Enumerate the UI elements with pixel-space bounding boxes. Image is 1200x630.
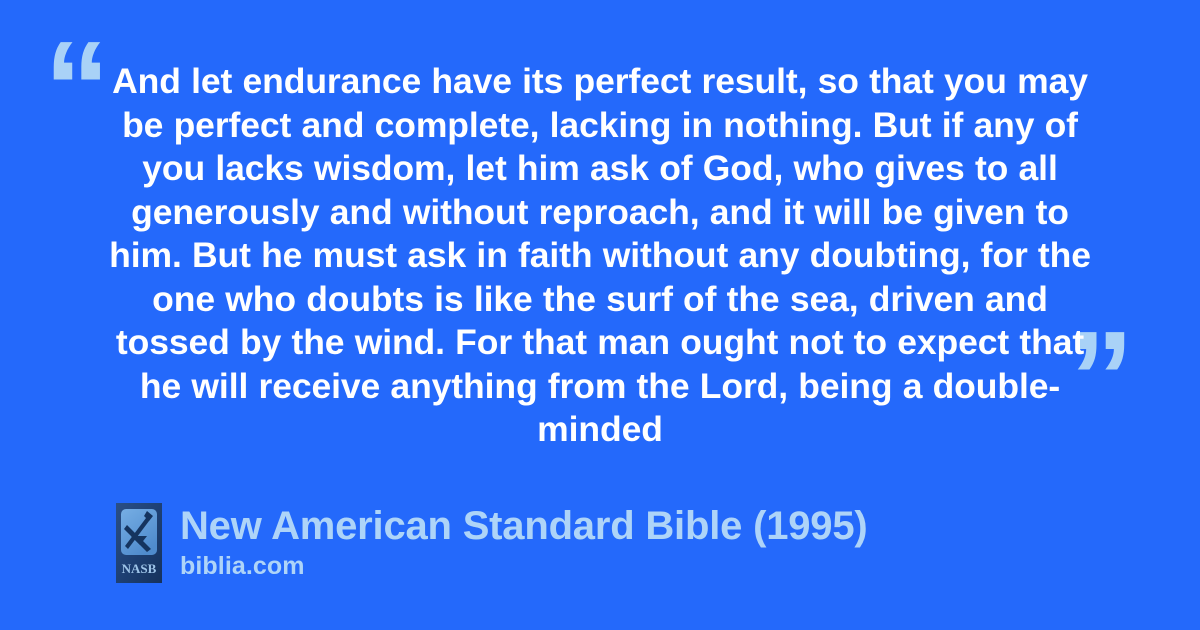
bible-version-title: New American Standard Bible (1995) [180,503,868,550]
svg-text:NASB: NASB [122,561,157,576]
quote-text: And let endurance have its perfect resul… [104,60,1096,452]
site-label: biblia.com [180,551,868,581]
brand-text: New American Standard Bible (1995) bibli… [180,503,868,581]
branding: NASB New American Standard Bible (1995) … [116,503,868,583]
quote-block: And let endurance have its perfect resul… [0,60,1200,452]
quote-card: “ ” And let endurance have its perfect r… [0,0,1200,630]
nasb-bible-logo-icon: NASB [116,503,162,583]
